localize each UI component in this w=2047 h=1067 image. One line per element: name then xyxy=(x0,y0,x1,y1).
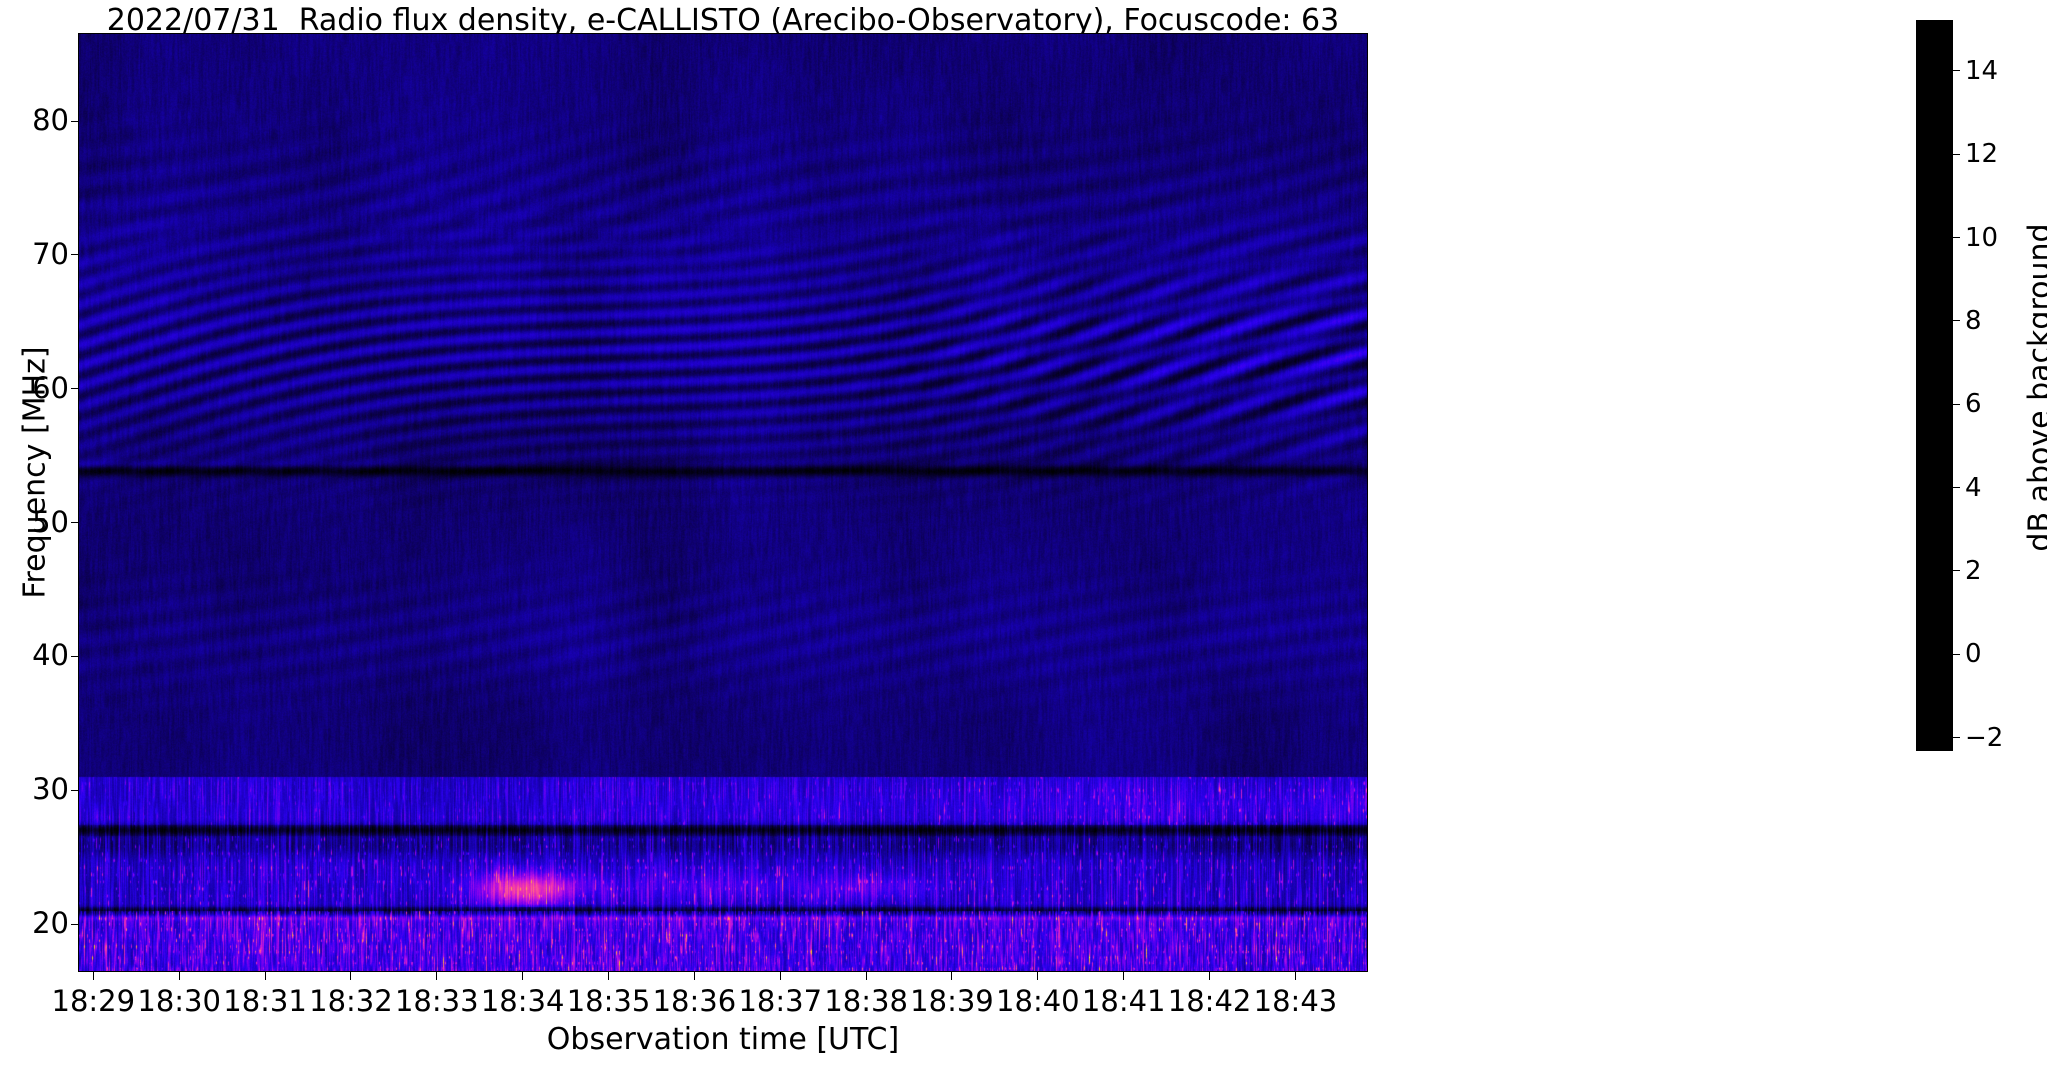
y-tick-mark xyxy=(71,121,78,122)
colorbar-tick-label: 14 xyxy=(1965,58,1998,84)
colorbar-tick-mark xyxy=(1953,320,1960,321)
x-tick-mark xyxy=(265,972,266,980)
y-tick-label: 20 xyxy=(32,909,69,938)
x-axis-label: Observation time [UTC] xyxy=(78,1022,1368,1057)
y-axis-label: Frequency [MHz] xyxy=(18,223,53,723)
spectrogram-image xyxy=(79,34,1367,971)
colorbar-tick-label: 10 xyxy=(1965,225,1998,251)
x-tick-label: 18:37 xyxy=(738,985,822,1017)
x-tick-mark xyxy=(780,972,781,980)
colorbar-tick-label: 4 xyxy=(1965,475,1982,501)
colorbar-gradient xyxy=(1917,21,1952,750)
x-tick-mark xyxy=(608,972,609,980)
x-tick-label: 18:40 xyxy=(996,985,1080,1017)
colorbar[interactable] xyxy=(1916,20,1953,751)
x-tick-label: 18:31 xyxy=(223,985,307,1017)
spectrogram-axes[interactable] xyxy=(78,33,1368,972)
colorbar-tick-mark xyxy=(1953,487,1960,488)
x-tick-label: 18:32 xyxy=(309,985,393,1017)
colorbar-tick-label: 6 xyxy=(1965,391,1982,417)
x-tick-mark xyxy=(1037,972,1038,980)
colorbar-tick-mark xyxy=(1953,654,1960,655)
y-tick-mark xyxy=(71,656,78,657)
y-tick-mark xyxy=(71,254,78,255)
x-tick-mark xyxy=(694,972,695,980)
x-tick-mark xyxy=(522,972,523,980)
x-tick-mark xyxy=(866,972,867,980)
x-tick-label: 18:41 xyxy=(1082,985,1166,1017)
colorbar-tick-label: 8 xyxy=(1965,308,1982,334)
x-tick-mark xyxy=(93,972,94,980)
x-tick-label: 18:34 xyxy=(481,985,565,1017)
colorbar-tick-label: 12 xyxy=(1965,141,1998,167)
x-tick-mark xyxy=(1123,972,1124,980)
x-tick-label: 18:35 xyxy=(567,985,651,1017)
y-tick-mark xyxy=(71,522,78,523)
y-tick-mark xyxy=(71,924,78,925)
x-tick-label: 18:30 xyxy=(137,985,221,1017)
colorbar-tick-mark xyxy=(1953,70,1960,71)
colorbar-tick-label: −2 xyxy=(1965,725,2003,751)
y-tick-label: 30 xyxy=(32,775,69,804)
x-tick-label: 18:29 xyxy=(52,985,136,1017)
colorbar-tick-mark xyxy=(1953,154,1960,155)
colorbar-tick-mark xyxy=(1953,737,1960,738)
colorbar-tick-mark xyxy=(1953,570,1960,571)
x-tick-label: 18:36 xyxy=(653,985,737,1017)
figure-canvas: 2022/07/31 Radio flux density, e-CALLIST… xyxy=(0,0,2047,1067)
colorbar-tick-mark xyxy=(1953,237,1960,238)
y-tick-label: 80 xyxy=(32,106,69,135)
y-tick-mark xyxy=(71,388,78,389)
x-tick-mark xyxy=(1209,972,1210,980)
x-tick-label: 18:33 xyxy=(395,985,479,1017)
x-tick-mark xyxy=(436,972,437,980)
y-tick-mark xyxy=(71,790,78,791)
colorbar-label: dB above background xyxy=(2023,138,2047,638)
x-tick-mark xyxy=(179,972,180,980)
colorbar-tick-label: 0 xyxy=(1965,641,1982,667)
x-tick-mark xyxy=(350,972,351,980)
colorbar-tick-label: 2 xyxy=(1965,558,1982,584)
x-tick-mark xyxy=(951,972,952,980)
x-tick-mark xyxy=(1295,972,1296,980)
x-tick-label: 18:43 xyxy=(1254,985,1338,1017)
x-tick-label: 18:39 xyxy=(910,985,994,1017)
x-tick-label: 18:38 xyxy=(824,985,908,1017)
x-tick-label: 18:42 xyxy=(1168,985,1252,1017)
colorbar-tick-mark xyxy=(1953,404,1960,405)
